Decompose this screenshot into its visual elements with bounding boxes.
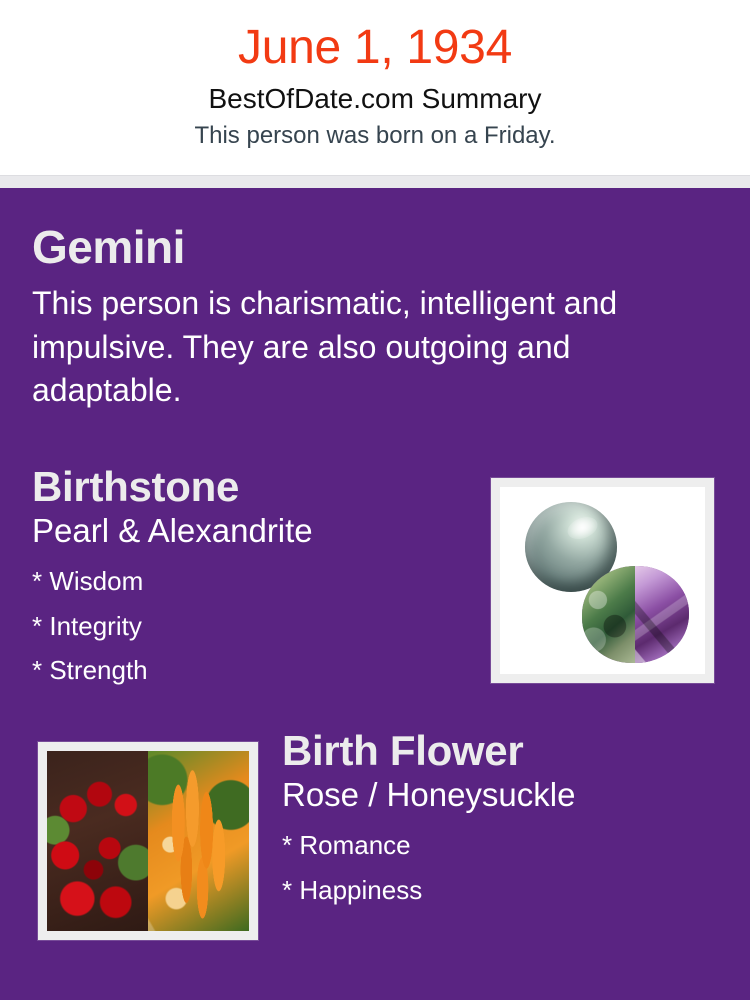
birthstone-text-block: Birthstone Pearl & Alexandrite * Wisdom … (32, 465, 477, 693)
zodiac-section: Gemini This person is charismatic, intel… (32, 224, 712, 413)
list-item: * Integrity (32, 604, 477, 649)
birthstone-trait-list: * Wisdom * Integrity * Strength (32, 550, 477, 693)
birthstone-names: Pearl & Alexandrite (32, 509, 477, 550)
summary-page: June 1, 1934 BestOfDate.com Summary This… (0, 0, 750, 1000)
list-item: * Wisdom (32, 559, 477, 604)
zodiac-sign-title: Gemini (32, 224, 712, 270)
list-item: * Romance (282, 823, 732, 868)
alexandrite-cut-half (635, 566, 688, 663)
site-summary-label: BestOfDate.com Summary (0, 75, 750, 115)
header-divider (0, 175, 750, 188)
alexandrite-gem-icon (582, 566, 689, 663)
birth-flower-title: Birth Flower (282, 729, 732, 773)
list-item: * Happiness (282, 868, 732, 913)
birthstone-image (500, 487, 705, 674)
page-header: June 1, 1934 BestOfDate.com Summary This… (0, 0, 750, 175)
birth-flower-names: Rose / Honeysuckle (282, 773, 732, 814)
list-item: * Strength (32, 648, 477, 693)
zodiac-description: This person is charismatic, intelligent … (32, 270, 702, 413)
honeysuckle-photo-half (148, 751, 249, 931)
alexandrite-rough-half (582, 566, 635, 663)
birth-flower-image (47, 751, 249, 931)
birthstone-image-frame (491, 478, 714, 683)
birth-flower-trait-list: * Romance * Happiness (282, 814, 732, 912)
birthstone-title: Birthstone (32, 465, 477, 509)
birth-weekday-note: This person was born on a Friday. (0, 115, 750, 150)
page-title-date: June 1, 1934 (0, 0, 750, 75)
birth-flower-image-frame (38, 742, 258, 940)
rose-photo-half (47, 751, 148, 931)
birth-flower-section: Birth Flower Rose / Honeysuckle * Romanc… (282, 729, 732, 912)
